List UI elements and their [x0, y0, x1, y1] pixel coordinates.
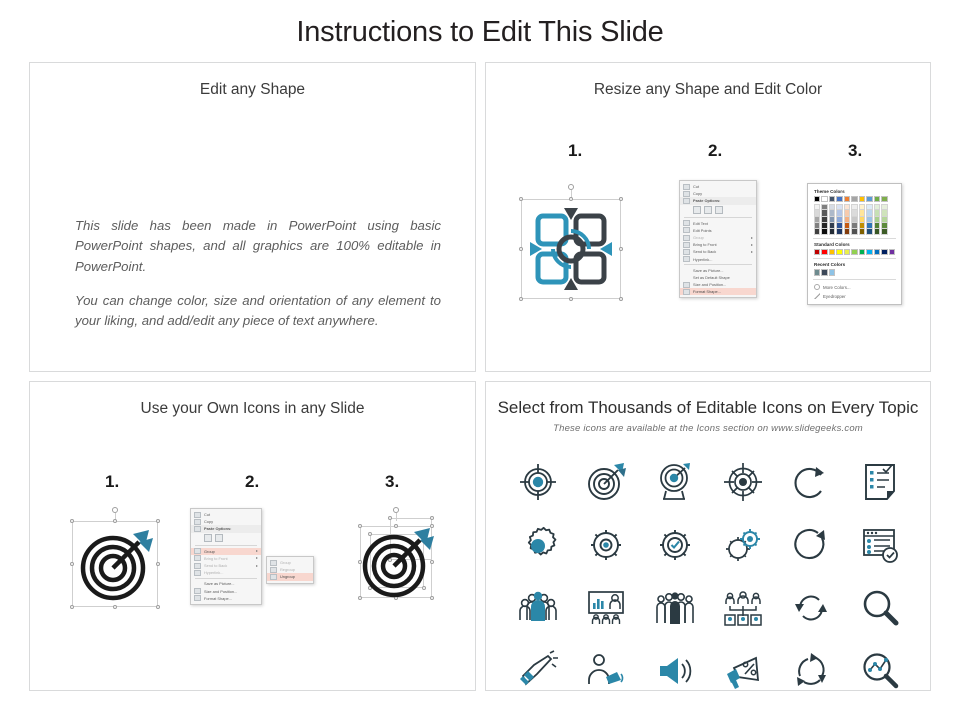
panel-heading-edit-shape: Edit any Shape	[30, 81, 475, 99]
eyedropper-item[interactable]: Eyedropper	[812, 292, 897, 301]
tint-column[interactable]	[836, 204, 842, 235]
menu-item-label: Edit Points	[693, 228, 712, 233]
size-position-icon	[683, 282, 690, 288]
resize-handle-n[interactable]	[113, 519, 117, 523]
chevron-right-icon	[751, 237, 753, 239]
send-to-back-icon	[194, 563, 201, 569]
color-picker-dropdown[interactable]: Theme Colors	[807, 183, 902, 305]
panel-editable-icons: Select from Thousands of Editable Icons …	[485, 381, 931, 691]
tint-column[interactable]	[829, 204, 835, 235]
resize-handle-nw[interactable]	[70, 519, 74, 523]
standard-swatch[interactable]	[814, 249, 820, 255]
standard-swatch[interactable]	[851, 249, 857, 255]
icon-gallery-grid	[504, 450, 914, 702]
paste-picture-icon[interactable]	[704, 206, 712, 214]
tint-column[interactable]	[821, 204, 827, 235]
submenu-item-regroup[interactable]: Regroup	[267, 566, 313, 573]
picker-divider	[813, 238, 896, 239]
circular-arrow-icon[interactable]	[790, 524, 832, 566]
resize-handle-se[interactable]	[619, 297, 623, 301]
edit-text-icon	[683, 220, 690, 226]
menu-item-send-to-back[interactable]: Send to Back	[680, 248, 756, 255]
theme-swatch[interactable]	[866, 196, 872, 202]
tint-column[interactable]	[859, 204, 865, 235]
menu-item-label: Group	[280, 560, 291, 565]
bring-to-front-icon	[683, 242, 690, 248]
theme-swatch[interactable]	[814, 196, 820, 202]
gear-filled-icon[interactable]	[517, 524, 559, 566]
panel-edit-any-shape: Edit any Shape This slide has been made …	[29, 62, 476, 372]
theme-swatch[interactable]	[874, 196, 880, 202]
menu-item-cut[interactable]: Cut	[680, 183, 756, 190]
format-shape-icon	[194, 595, 201, 601]
menu-divider	[195, 545, 257, 546]
standard-swatch[interactable]	[881, 249, 887, 255]
format-shape-icon	[683, 289, 690, 295]
chevron-right-icon	[751, 244, 753, 246]
resize-handle-e[interactable]	[156, 562, 160, 566]
menu-divider	[684, 217, 752, 218]
theme-colors-label: Theme Colors	[814, 189, 897, 194]
menu-item-label: Size and Position...	[693, 282, 726, 287]
menu-item-paste-options: Paste Options:	[680, 197, 756, 204]
regroup-icon	[270, 567, 277, 573]
double-gears-icon[interactable]	[722, 524, 764, 566]
people-group-icon[interactable]	[517, 587, 559, 629]
copy-icon	[683, 191, 690, 197]
dartboard-arrow-icon	[358, 522, 438, 602]
menu-divider	[684, 264, 752, 265]
resize-handle-s[interactable]	[569, 297, 573, 301]
magnifier-icon[interactable]	[859, 587, 901, 629]
standard-swatch[interactable]	[874, 249, 880, 255]
menu-item-label: Cut	[693, 184, 699, 189]
menu-item-label: Ungroup	[280, 574, 295, 579]
menu-item-format-shape[interactable]: Format Shape...	[680, 288, 756, 295]
menu-item-label: Cut	[204, 512, 210, 517]
edit-shape-paragraph-1: This slide has been made in PowerPoint u…	[75, 216, 441, 277]
resize-handle-w[interactable]	[519, 247, 523, 251]
paste-keep-formatting-icon[interactable]	[693, 206, 701, 214]
crosshair-scope-icon[interactable]	[722, 461, 764, 503]
menu-item-label: Size and Position...	[204, 589, 237, 594]
own-icons-step-number-1: 1.	[105, 472, 119, 492]
slide-canvas: Instructions to Edit This Slide Edit any…	[0, 0, 960, 720]
menu-item-label: Paste Options:	[693, 198, 720, 203]
cycle-arrows-icon[interactable]	[790, 650, 832, 692]
menu-item-label: Send to Back	[204, 563, 227, 568]
recent-swatch[interactable]	[829, 269, 835, 275]
document-check-icon[interactable]	[859, 524, 901, 566]
recent-swatch[interactable]	[821, 269, 827, 275]
hyperlink-icon	[683, 256, 690, 262]
menu-item-copy[interactable]: Copy	[191, 518, 261, 525]
theme-swatch[interactable]	[881, 196, 887, 202]
tint-column[interactable]	[881, 204, 887, 235]
menu-item-label: Send to Back	[693, 249, 716, 254]
ungroup-icon	[270, 574, 277, 580]
shape-context-menu[interactable]: Cut Copy Paste Options: Edit Text Edit P…	[679, 180, 757, 298]
menu-item-hyperlink[interactable]: Hyperlink...	[191, 569, 261, 576]
page-title: Instructions to Edit This Slide	[0, 16, 960, 49]
menu-item-label: Regroup	[280, 567, 295, 572]
own-icons-step-number-3: 3.	[385, 472, 399, 492]
tint-column[interactable]	[844, 204, 850, 235]
megaphone-icon[interactable]	[517, 650, 559, 692]
menu-item-label: Bring to Front	[204, 556, 228, 561]
own-icons-step-number-2: 2.	[245, 472, 259, 492]
resize-step-number-2: 2.	[708, 141, 722, 161]
send-to-back-icon	[683, 249, 690, 255]
standard-swatch[interactable]	[859, 249, 865, 255]
ungrouped-icon-selection[interactable]	[342, 504, 462, 624]
edit-points-icon	[683, 227, 690, 233]
paste-option-buttons[interactable]	[680, 205, 756, 216]
gear-check-icon[interactable]	[654, 524, 696, 566]
standard-colors-label: Standard Colors	[814, 242, 897, 247]
menu-item-label: Format Shape...	[204, 596, 232, 601]
resize-handle-nw[interactable]	[519, 197, 523, 201]
menu-item-label: Hyperlink...	[204, 570, 223, 575]
menu-item-label: Bring to Front	[693, 242, 717, 247]
theme-swatch[interactable]	[836, 196, 842, 202]
chevron-right-icon	[256, 557, 258, 559]
picker-divider	[813, 279, 896, 280]
menu-item-size-and-position[interactable]: Size and Position...	[191, 588, 261, 595]
rotate-handle[interactable]	[393, 507, 399, 513]
cut-icon	[683, 184, 690, 190]
bring-to-front-icon	[194, 555, 201, 561]
dartboard-arrow-icon	[75, 524, 155, 604]
megaphone-percent-icon[interactable]	[722, 650, 764, 692]
standard-swatch[interactable]	[889, 249, 895, 255]
menu-divider	[195, 578, 257, 579]
target-stand-icon[interactable]	[654, 461, 696, 503]
resize-step-number-3: 3.	[848, 141, 862, 161]
chevron-right-icon	[256, 550, 258, 552]
tint-column[interactable]	[814, 204, 820, 235]
person-megaphone-icon[interactable]	[585, 650, 627, 692]
tint-column[interactable]	[851, 204, 857, 235]
menu-item-set-as-default-shape[interactable]: Set as Default Shape	[680, 274, 756, 281]
menu-item-label: Save as Picture...	[693, 268, 724, 273]
checklist-document-icon[interactable]	[859, 461, 901, 503]
resize-handle-ne[interactable]	[619, 197, 623, 201]
paste-keep-formatting-icon[interactable]	[204, 534, 212, 542]
menu-item-label: Format Shape...	[693, 289, 721, 294]
more-colors-label: More Colors...	[823, 285, 851, 290]
panel-own-icons: Use your Own Icons in any Slide 1. 2. 3.	[29, 381, 476, 691]
resize-handle-s[interactable]	[113, 605, 117, 609]
paste-text-only-icon[interactable]	[715, 206, 723, 214]
presentation-meeting-icon[interactable]	[585, 587, 627, 629]
tint-column[interactable]	[866, 204, 872, 235]
tint-column[interactable]	[874, 204, 880, 235]
menu-item-cut[interactable]: Cut	[191, 511, 261, 518]
standard-colors-row[interactable]	[814, 249, 897, 255]
theme-swatch[interactable]	[859, 196, 865, 202]
panel-heading-resize-shape: Resize any Shape and Edit Color	[486, 81, 930, 99]
submenu-item-group[interactable]: Group	[267, 559, 313, 566]
resize-handle-se[interactable]	[156, 605, 160, 609]
refresh-arrow-icon[interactable]	[790, 461, 832, 503]
resize-step-number-1: 1.	[568, 141, 582, 161]
menu-item-group[interactable]: Group	[191, 548, 261, 555]
menu-item-label: Paste Options:	[204, 526, 231, 531]
resize-handle-ne[interactable]	[156, 519, 160, 523]
menu-item-label: Hyperlink...	[693, 257, 712, 262]
menu-item-bring-to-front[interactable]: Bring to Front	[191, 555, 261, 562]
picker-divider	[813, 258, 896, 259]
menu-item-edit-points[interactable]: Edit Points	[680, 227, 756, 234]
resize-handle-w[interactable]	[70, 562, 74, 566]
grouped-icon-selection[interactable]	[62, 507, 172, 622]
rotate-handle[interactable]	[568, 184, 574, 190]
team-people-icon[interactable]	[654, 587, 696, 629]
standard-swatch[interactable]	[836, 249, 842, 255]
standard-swatch[interactable]	[844, 249, 850, 255]
recent-swatch[interactable]	[814, 269, 820, 275]
menu-item-label: Edit Text	[693, 221, 708, 226]
menu-item-label: Save as Picture...	[204, 581, 235, 586]
four-squares-cycle-icon	[528, 206, 614, 292]
menu-item-label: Group	[693, 235, 704, 240]
menu-item-group[interactable]: Group	[680, 234, 756, 241]
team-hierarchy-icon[interactable]	[722, 587, 764, 629]
theme-colors-base-row[interactable]	[814, 196, 897, 202]
copy-icon	[194, 519, 201, 525]
dartboard-arrow-icon[interactable]	[585, 461, 627, 503]
cut-icon	[194, 512, 201, 518]
menu-item-paste-options: Paste Options:	[191, 525, 261, 532]
rotate-handle[interactable]	[112, 507, 118, 513]
magnifier-chart-icon[interactable]	[859, 650, 901, 692]
chevron-right-icon	[751, 251, 753, 253]
menu-item-format-shape[interactable]: Format Shape...	[191, 595, 261, 602]
theme-swatch[interactable]	[829, 196, 835, 202]
more-colors-item[interactable]: More Colors...	[812, 283, 897, 292]
group-icon	[683, 235, 690, 241]
menu-item-send-to-back[interactable]: Send to Back	[191, 562, 261, 569]
panel-resize-shape: Resize any Shape and Edit Color 1. 2. 3.	[485, 62, 931, 372]
selected-shape-mock[interactable]	[516, 181, 626, 306]
resize-handle-sw[interactable]	[519, 297, 523, 301]
theme-swatch[interactable]	[851, 196, 857, 202]
menu-item-size-and-position[interactable]: Size and Position...	[680, 281, 756, 288]
edit-shape-paragraph-2: You can change color, size and orientati…	[75, 291, 441, 332]
menu-item-label: Copy	[693, 191, 702, 196]
gear-outline-icon[interactable]	[585, 524, 627, 566]
recent-colors-row[interactable]	[814, 269, 897, 275]
group-context-menu[interactable]: Cut Copy Paste Options: Group Bring to F…	[190, 508, 262, 605]
loudspeaker-icon[interactable]	[654, 650, 696, 692]
menu-item-hyperlink[interactable]: Hyperlink...	[680, 256, 756, 263]
menu-item-copy[interactable]: Copy	[680, 190, 756, 197]
standard-swatch[interactable]	[821, 249, 827, 255]
menu-item-save-as-picture[interactable]: Save as Picture...	[680, 267, 756, 274]
sync-arrows-icon[interactable]	[790, 587, 832, 629]
crosshair-target-icon[interactable]	[517, 461, 559, 503]
resize-handle-sw[interactable]	[70, 605, 74, 609]
resize-handle[interactable]	[388, 516, 392, 520]
size-position-icon	[194, 588, 201, 594]
paste-option-buttons[interactable]	[191, 533, 261, 544]
theme-swatch[interactable]	[821, 196, 827, 202]
menu-item-label: Set as Default Shape	[693, 275, 730, 280]
group-icon	[194, 548, 201, 554]
eyedropper-label: Eyedropper	[823, 294, 846, 299]
resize-handle-n[interactable]	[569, 197, 573, 201]
standard-swatch[interactable]	[866, 249, 872, 255]
theme-swatch[interactable]	[844, 196, 850, 202]
submenu-item-ungroup[interactable]: Ungroup	[267, 573, 313, 580]
group-icon	[270, 560, 277, 566]
menu-item-bring-to-front[interactable]: Bring to Front	[680, 241, 756, 248]
panel-heading-editable-icons: Select from Thousands of Editable Icons …	[486, 398, 930, 418]
paste-picture-icon[interactable]	[215, 534, 223, 542]
menu-item-label: Group	[204, 549, 215, 554]
standard-swatch[interactable]	[829, 249, 835, 255]
panel-subheading-editable-icons: These icons are available at the Icons s…	[486, 423, 930, 434]
hyperlink-icon	[194, 570, 201, 576]
recent-colors-label: Recent Colors	[814, 262, 897, 267]
chevron-right-icon	[256, 565, 258, 567]
eyedropper-icon	[814, 293, 820, 299]
panel-heading-own-icons: Use your Own Icons in any Slide	[30, 400, 475, 418]
menu-item-save-as-picture[interactable]: Save as Picture...	[191, 580, 261, 587]
theme-colors-tint-grid[interactable]	[814, 204, 897, 235]
palette-icon	[814, 284, 820, 290]
menu-item-label: Copy	[204, 519, 213, 524]
resize-handle[interactable]	[430, 516, 434, 520]
menu-item-edit-text[interactable]: Edit Text	[680, 220, 756, 227]
resize-handle-e[interactable]	[619, 247, 623, 251]
paste-icon	[683, 198, 690, 204]
group-submenu[interactable]: Group Regroup Ungroup	[266, 556, 314, 584]
paste-icon	[194, 526, 201, 532]
